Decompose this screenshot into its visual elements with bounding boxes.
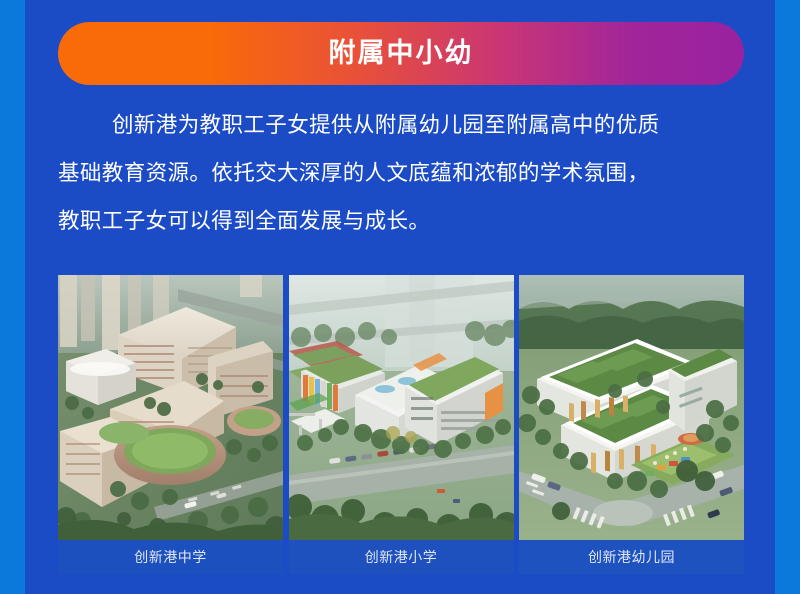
- gallery-card-kindergarten[interactable]: 创新港幼儿园: [519, 275, 744, 574]
- body-line-1: 创新港为教职工子女提供从附属幼儿园至附属高中的优质: [58, 101, 748, 149]
- primary-school-illustration: [289, 275, 514, 540]
- gallery-card-primary-school[interactable]: 创新港小学: [289, 275, 514, 574]
- gallery-card-middle-school[interactable]: 创新港中学: [58, 275, 283, 574]
- photo-kindergarten: [519, 275, 744, 540]
- section-header-pill: 附属中小幼: [58, 22, 744, 85]
- gallery-caption-middle-school: 创新港中学: [58, 540, 283, 574]
- gallery-row: 创新港中学: [58, 275, 744, 574]
- photo-primary-school: [289, 275, 514, 540]
- gallery-caption-kindergarten: 创新港幼儿园: [519, 540, 744, 574]
- body-paragraph: 创新港为教职工子女提供从附属幼儿园至附属高中的优质 基础教育资源。依托交大深厚的…: [58, 101, 748, 245]
- kindergarten-illustration: [519, 275, 744, 540]
- photo-middle-school: [58, 275, 283, 540]
- page-title: 附属中小幼: [329, 40, 474, 67]
- middle-school-illustration: [58, 275, 283, 540]
- gallery-caption-primary-school: 创新港小学: [289, 540, 514, 574]
- body-line-3: 教职工子女可以得到全面发展与成长。: [58, 197, 748, 245]
- page-root: 附属中小幼 创新港为教职工子女提供从附属幼儿园至附属高中的优质 基础教育资源。依…: [0, 0, 800, 594]
- body-line-2: 基础教育资源。依托交大深厚的人文底蕴和浓郁的学术氛围，: [58, 149, 748, 197]
